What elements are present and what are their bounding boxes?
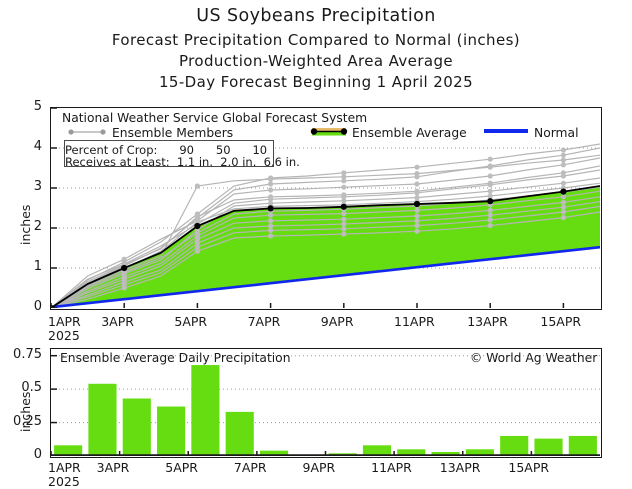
daily-panel-caption: Ensemble Average Daily Precipitation (60, 351, 291, 365)
daily-x-tick-1: 3APR (97, 460, 130, 475)
page-title: US Soybeans Precipitation (0, 6, 632, 26)
main-x-tick-2: 5APR (174, 314, 207, 329)
daily-y-tick-0: 0 (0, 447, 42, 462)
ensemble-members-legend-icon (68, 128, 106, 136)
main-y-tick-0: 0 (10, 299, 42, 314)
daily-x-tick-4: 9APR (303, 460, 336, 475)
legend-label-normal: Normal (534, 126, 579, 140)
main-x-tick-3: 7APR (248, 314, 281, 329)
daily-x-tick-7: 15APR (508, 460, 549, 475)
crop-table-row-amount: Receives at Least: 1.1 in. 2.0 in. 6.6 i… (65, 155, 275, 169)
subtitle-line-2: Production-Weighted Area Average (0, 52, 632, 70)
main-y-tick-2: 2 (10, 219, 42, 234)
daily-x-tick-2: 5APR (165, 460, 198, 475)
subtitle-line-1: Forecast Precipitation Compared to Norma… (0, 31, 632, 49)
daily-x-tick-5: 11APR (371, 460, 412, 475)
copyright-notice: © World Ag Weather (470, 351, 597, 365)
daily-y-tick-3: 0.75 (0, 347, 42, 362)
main-y-tick-3: 3 (10, 179, 42, 194)
ensemble-average-legend-icon (310, 126, 348, 137)
daily-x-tick-0: 1APR (48, 460, 81, 475)
chart-page: US Soybeans Precipitation Forecast Preci… (0, 0, 632, 488)
main-x-tick-6: 13APR (467, 314, 508, 329)
main-x-axis-year: 2025 (48, 328, 80, 343)
main-x-tick-7: 15APR (540, 314, 581, 329)
daily-y-tick-2: 0.5 (0, 380, 42, 395)
main-x-tick-4: 9APR (321, 314, 354, 329)
main-x-tick-5: 11APR (394, 314, 435, 329)
main-y-tick-1: 1 (10, 259, 42, 274)
normal-legend-icon (484, 129, 528, 133)
legend-label-members: Ensemble Members (112, 126, 233, 140)
percent-of-crop-table: Percent of Crop: 90 50 10 Receives at Le… (64, 140, 274, 167)
daily-y-tick-1: 0.25 (0, 414, 42, 429)
daily-x-axis-year: 2025 (48, 474, 80, 489)
main-x-tick-1: 3APR (101, 314, 134, 329)
daily-x-tick-3: 7APR (234, 460, 267, 475)
legend-header: National Weather Service Global Forecast… (62, 111, 367, 125)
main-y-tick-5: 5 (10, 99, 42, 114)
main-y-tick-4: 4 (10, 139, 42, 154)
daily-precip-svg (51, 349, 600, 456)
main-x-tick-0: 1APR (48, 314, 81, 329)
daily-x-tick-6: 13APR (440, 460, 481, 475)
subtitle-line-3: 15-Day Forecast Beginning 1 April 2025 (0, 73, 632, 91)
legend-label-average: Ensemble Average (352, 126, 467, 140)
